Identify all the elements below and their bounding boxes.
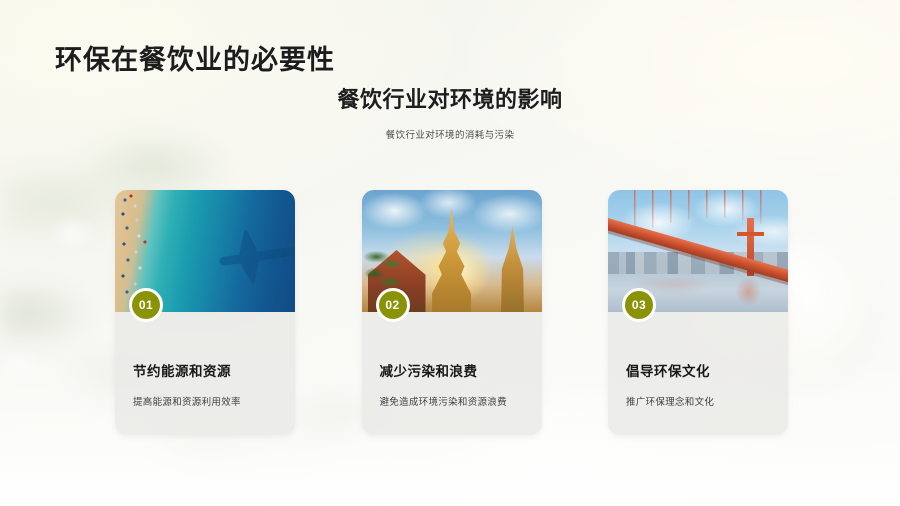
card-number-badge: 01 bbox=[129, 288, 163, 322]
presentation-slide: 环保在餐饮业的必要性 餐饮行业对环境的影响 餐饮行业对环境的消耗与污染 01 节… bbox=[0, 0, 900, 506]
card-number-badge: 03 bbox=[622, 288, 656, 322]
page-title: 环保在餐饮业的必要性 bbox=[55, 38, 335, 77]
card-title: 倡导环保文化 bbox=[626, 360, 788, 380]
card-body: 节约能源和资源 提高能源和资源利用效率 bbox=[115, 312, 295, 408]
card-item[interactable]: 01 节约能源和资源 提高能源和资源利用效率 bbox=[115, 190, 295, 435]
card-item[interactable]: 02 减少污染和浪费 避免造成环境污染和资源浪费 bbox=[362, 190, 542, 435]
card-title: 减少污染和浪费 bbox=[380, 360, 542, 380]
section-subheading: 餐饮行业对环境的消耗与污染 bbox=[0, 127, 900, 141]
section-heading: 餐饮行业对环境的影响 bbox=[0, 82, 900, 114]
card-title: 节约能源和资源 bbox=[133, 360, 295, 380]
card-list: 01 节约能源和资源 提高能源和资源利用效率 02 减少污染和浪费 避免造成环境… bbox=[115, 190, 788, 435]
bridge-cables-icon bbox=[618, 190, 788, 252]
card-description: 推广环保理念和文化 bbox=[626, 394, 788, 408]
card-body: 倡导环保文化 推广环保理念和文化 bbox=[608, 312, 788, 408]
card-number-badge: 02 bbox=[376, 288, 410, 322]
card-item[interactable]: 03 倡导环保文化 推广环保理念和文化 bbox=[608, 190, 788, 435]
card-body: 减少污染和浪费 避免造成环境污染和资源浪费 bbox=[362, 312, 542, 408]
card-description: 避免造成环境污染和资源浪费 bbox=[380, 394, 542, 408]
card-description: 提高能源和资源利用效率 bbox=[133, 394, 295, 408]
